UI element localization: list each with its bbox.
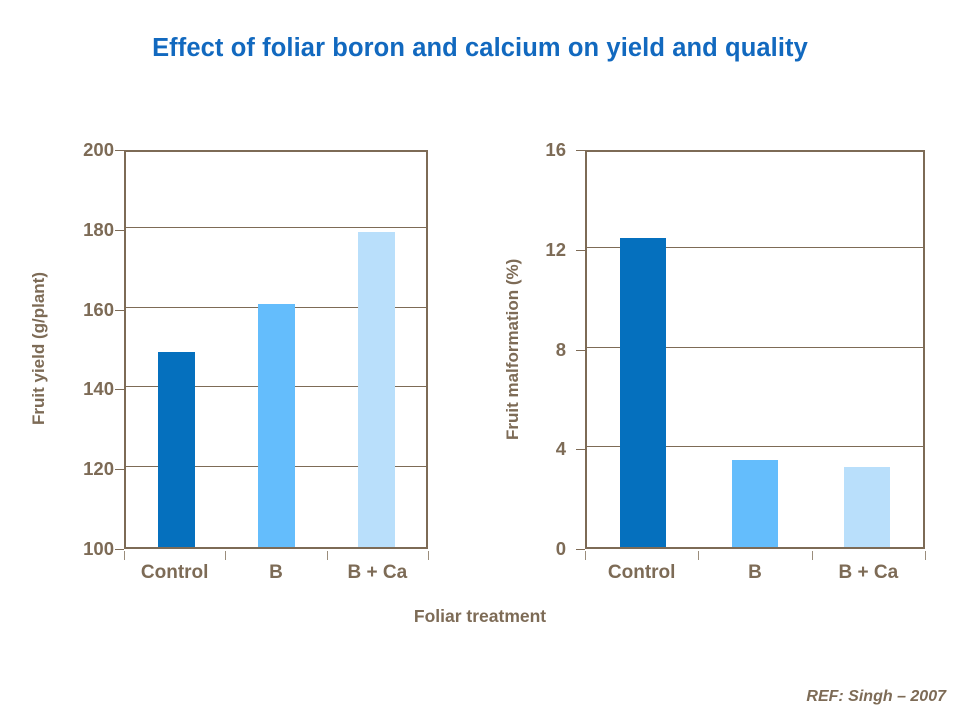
y-axis-tick-label: 160 <box>52 300 114 319</box>
x-axis-tickmark <box>925 551 926 560</box>
x-axis-tick-label: Control <box>585 562 698 584</box>
x-axis-tick-label: B + Ca <box>327 562 428 584</box>
y-axis-tick-label: 120 <box>52 460 114 479</box>
bar <box>358 232 395 547</box>
y-axis-tickmark <box>576 250 585 251</box>
x-axis-tickmark <box>812 551 813 560</box>
y-axis-tick-label: 4 <box>518 440 566 459</box>
y-axis-tick-label: 100 <box>52 540 114 559</box>
x-axis-tickmarks-left <box>124 551 428 560</box>
page-title: Effect of foliar boron and calcium on yi… <box>0 34 960 63</box>
reference-citation: REF: Singh – 2007 <box>806 688 946 706</box>
x-axis-tickmark <box>585 551 586 560</box>
y-axis-tick-label: 12 <box>518 241 566 260</box>
x-axis-labels-right: ControlBB + Ca <box>585 562 925 584</box>
bar <box>732 460 778 547</box>
x-axis-tickmark <box>698 551 699 560</box>
x-axis-tickmarks-right <box>585 551 925 560</box>
x-axis-tickmark <box>428 551 429 560</box>
bar-group-fruit-malformation <box>587 152 923 547</box>
x-axis-tick-label: B + Ca <box>812 562 925 584</box>
y-axis-tick-label: 200 <box>52 141 114 160</box>
y-axis-title-left: Fruit yield (g/plant) <box>26 150 52 548</box>
x-axis-tickmark <box>327 551 328 560</box>
bar <box>844 467 890 547</box>
y-axis-tickmark <box>576 449 585 450</box>
y-axis-tickmark <box>115 389 124 390</box>
bar-group-fruit-yield <box>126 152 426 547</box>
y-axis-tickmark <box>115 549 124 550</box>
x-axis-tick-label: B <box>225 562 326 584</box>
plot-area-fruit-malformation <box>585 150 925 549</box>
x-axis-tick-label: B <box>698 562 811 584</box>
y-axis-tickmark <box>576 150 585 151</box>
bar <box>158 352 195 548</box>
y-axis-tick-label: 16 <box>518 141 566 160</box>
y-axis-tick-label: 0 <box>518 540 566 559</box>
x-axis-tick-label: Control <box>124 562 225 584</box>
y-axis-tickmark <box>576 350 585 351</box>
y-axis-tick-label: 140 <box>52 380 114 399</box>
x-axis-title: Foliar treatment <box>0 606 960 627</box>
plot-area-fruit-yield <box>124 150 428 549</box>
x-axis-tickmark <box>124 551 125 560</box>
y-axis-tick-label: 8 <box>518 340 566 359</box>
bar <box>620 238 666 547</box>
y-axis-tickmark <box>115 310 124 311</box>
y-axis-tickmark <box>115 150 124 151</box>
y-axis-tickmark <box>115 469 124 470</box>
x-axis-labels-left: ControlBB + Ca <box>124 562 428 584</box>
x-axis-tickmark <box>225 551 226 560</box>
y-axis-tick-label: 180 <box>52 221 114 240</box>
y-axis-tickmark <box>576 549 585 550</box>
y-axis-tickmark <box>115 230 124 231</box>
bar <box>258 304 295 547</box>
